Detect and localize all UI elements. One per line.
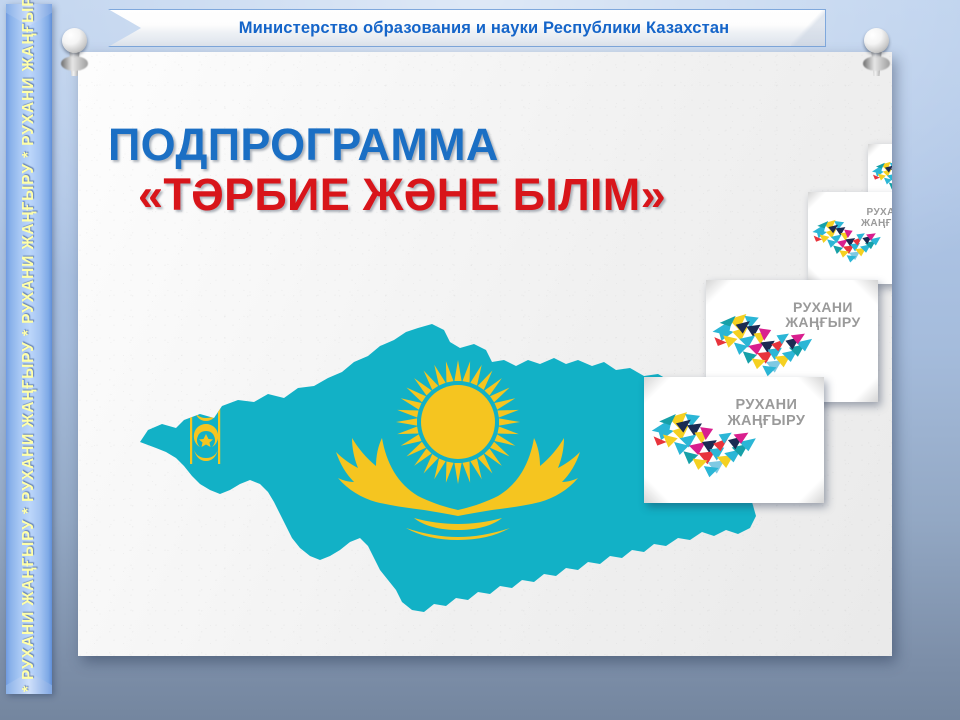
page-title: ПОДПРОГРАММА «ТӘРБИЕ ЖӘНЕ БІЛІМ»	[108, 122, 708, 218]
logo-line-2: ЖАҢҒЫРУ	[728, 413, 806, 429]
content-panel: ПОДПРОГРАММА «ТӘРБИЕ ЖӘНЕ БІЛІМ»	[78, 52, 892, 656]
logo-card[interactable]: РУХАНИ ЖАҢҒЫРУ	[808, 192, 892, 284]
flag-sun	[396, 360, 520, 484]
banner-title: Министерство образования и науки Республ…	[205, 19, 730, 38]
pin-head	[864, 28, 889, 53]
slide-canvas: * РУХАНИ ЖАҢҒЫРУ * РУХАНИ ЖАҢҒЫРУ * РУХА…	[0, 0, 960, 720]
side-ribbon: * РУХАНИ ЖАҢҒЫРУ * РУХАНИ ЖАҢҒЫРУ * РУХА…	[6, 4, 52, 694]
logo-line-2: ЖАҢҒЫРУ	[785, 314, 860, 330]
header-banner: Министерство образования и науки Республ…	[108, 9, 826, 47]
logo-line-1: РУХАНИ	[867, 207, 893, 218]
logo-line-1: РУХАНИ	[793, 299, 853, 315]
logo-card-inner: РУХАНИ ЖАҢҒЫРУ	[644, 377, 824, 503]
logo-card-text: РУХАНИ ЖАҢҒЫРУ	[778, 300, 867, 331]
title-line-2: «ТӘРБИЕ ЖӘНЕ БІЛІМ»	[138, 172, 708, 218]
title-line-1: ПОДПРОГРАММА	[108, 122, 708, 168]
logo-card-inner: РУХАНИ ЖАҢҒЫРУ	[808, 192, 892, 284]
logo-card-text: РУХАНИ ЖАҢҒЫРУ	[858, 207, 892, 229]
logo-line-2: ЖАҢҒЫРУ	[861, 218, 892, 229]
logo-card[interactable]: РУХАНИ ЖАҢҒЫРУ	[644, 377, 824, 503]
ribbon-text: * РУХАНИ ЖАҢҒЫРУ * РУХАНИ ЖАҢҒЫРУ * РУХА…	[20, 6, 38, 692]
logo-line-1: РУХАНИ	[735, 397, 797, 413]
logo-card-text: РУХАНИ ЖАҢҒЫРУ	[720, 397, 814, 429]
pin-head	[62, 28, 87, 53]
